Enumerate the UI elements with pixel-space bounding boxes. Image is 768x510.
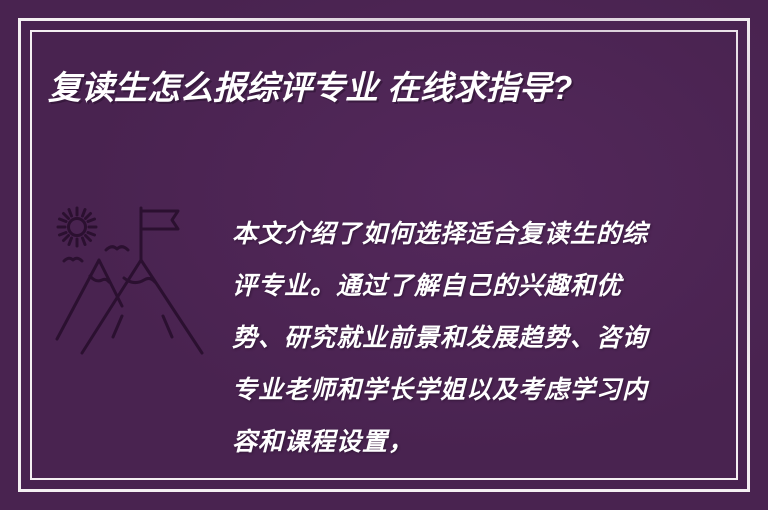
mountain-icon — [57, 260, 122, 339]
flag-icon — [141, 208, 178, 260]
poster-content: 复读生怎么报综评专业 在线求指导? — [0, 0, 768, 510]
bird-icon — [106, 247, 128, 250]
mountain-flag-illustration — [52, 198, 212, 363]
page-title: 复读生怎么报综评专业 在线求指导? — [48, 62, 664, 114]
mountain-icon — [82, 260, 202, 353]
bird-icon — [64, 258, 82, 261]
article-summary: 本文介绍了如何选择适合复读生的综评专业。通过了解自己的兴趣和优势、研究就业前景和… — [232, 208, 657, 468]
sun-icon — [58, 208, 96, 246]
poster-card: 复读生怎么报综评专业 在线求指导? — [0, 0, 768, 510]
